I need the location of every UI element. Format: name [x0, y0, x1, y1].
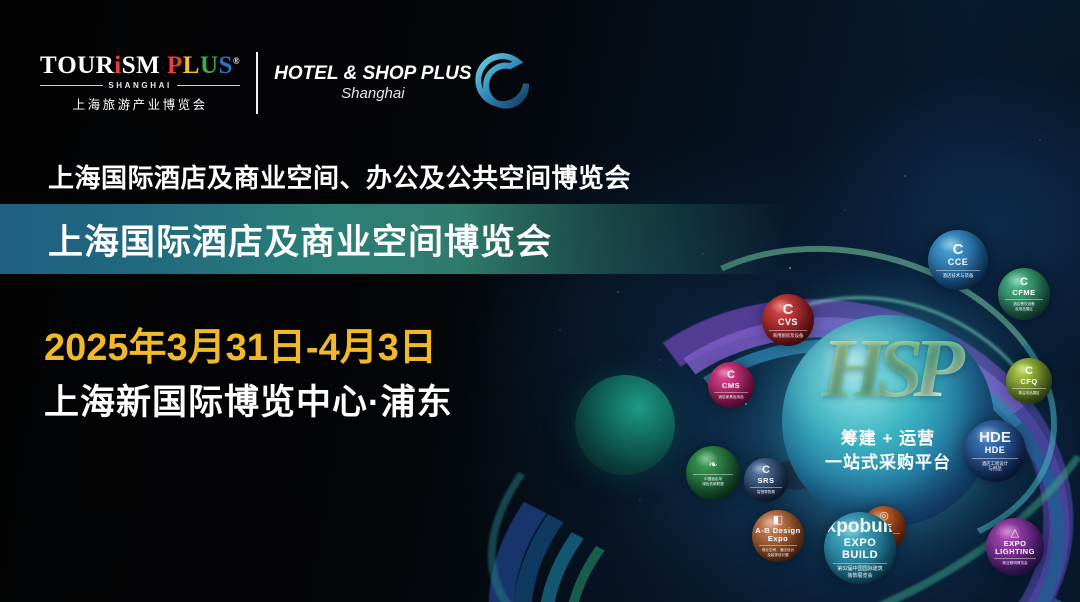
badge-mark-icon: C — [783, 302, 794, 317]
wordmark-letter: U — [200, 53, 219, 78]
hotel-shop-plus-logo[interactable]: HOTEL & SHOP PLUS Shanghai — [274, 52, 535, 114]
wordmark-letter: S — [219, 53, 233, 78]
slogan-line-1: 筹建 + 运营 — [782, 427, 994, 451]
headline-primary-bar: 上海国际酒店及商业空间博览会 — [0, 204, 790, 274]
rule-right — [177, 85, 240, 86]
wordmark-letter — [160, 53, 167, 78]
badge-mark-icon: C — [762, 465, 770, 476]
logo-divider — [256, 52, 258, 114]
badge-subtitle: 酒店技术与装备 — [936, 270, 980, 279]
badge-subtitle: 商业空间、酒店设计及装饰设计展 — [759, 545, 797, 557]
badge-subtitle: 中国酒店用绿色低碳联盟 — [693, 474, 733, 486]
badge-subtitle: 第32届中国国际建筑装饰展览会 — [833, 563, 886, 579]
rule-left — [40, 85, 103, 86]
badge-code: A-B Design Expo — [752, 527, 804, 544]
satellite-badge[interactable]: ◧A-B Design Expo商业空间、酒店设计及装饰设计展 — [752, 510, 804, 562]
badge-code: EXPO BUILD — [824, 537, 896, 561]
badge-code: CMS — [722, 382, 740, 390]
slogan-line-2: 一站式采购平台 — [782, 451, 994, 475]
badge-mark-icon: C — [953, 242, 964, 257]
green-planet-decoration — [575, 375, 675, 475]
hotel-shop-plus-line2: Shanghai — [274, 85, 471, 102]
badge-code: CVS — [778, 318, 798, 328]
badge-subtitle: 酒店餐饮设备及用品展区 — [1005, 299, 1043, 311]
satellite-badge[interactable]: CCFME酒店餐饮设备及用品展区 — [998, 268, 1050, 320]
hsp-monogram: HSP — [782, 327, 994, 411]
satellite-badge[interactable]: CCFQ清洁用品展区 — [1006, 358, 1052, 404]
logo-lockup: TOURiSM PLUS® SHANGHAI 上海旅游产业博览会 HOTEL &… — [40, 52, 536, 114]
wordmark-letter: L — [183, 53, 200, 78]
wordmark-letter: O — [57, 53, 77, 78]
wordmark-letter: M — [136, 53, 160, 78]
badge-mark-icon: HDE — [979, 430, 1011, 445]
satellite-badge[interactable]: △EXPO LIGHTING商业照明博览会 — [986, 518, 1044, 576]
badge-subtitle: 酒店工程设计与用品 — [972, 458, 1018, 472]
hotel-shop-plus-line1: HOTEL & SHOP PLUS — [274, 64, 471, 84]
event-date: 2025年3月31日-4月3日 — [44, 316, 437, 371]
badge-code: HDE — [985, 446, 1006, 456]
wordmark-letter: U — [77, 53, 96, 78]
badge-mark-icon: C — [727, 370, 735, 381]
event-banner: HSP 筹建 + 运营 一站式采购平台 CCCE酒店技术与装备CCFME酒店餐饮… — [0, 0, 1080, 602]
headline-primary: 上海国际酒店及商业空间博览会 — [48, 214, 552, 265]
badge-subtitle: 智慧零售展 — [750, 487, 783, 495]
swirl-icon — [474, 52, 536, 114]
tourism-plus-city-row: SHANGHAI — [40, 81, 240, 90]
satellite-badge[interactable]: HDEHDE酒店工程设计与用品 — [964, 420, 1026, 482]
tourism-plus-name-cn: 上海旅游产业博览会 — [73, 94, 208, 113]
tourism-plus-city: SHANGHAI — [108, 81, 171, 90]
badge-mark-icon: △ — [1011, 528, 1019, 539]
wordmark-letter: R — [96, 53, 115, 78]
badge-mark-icon: C — [1025, 366, 1033, 377]
satellite-badge[interactable]: expobuildEXPO BUILD第32届中国国际建筑装饰展览会 — [824, 512, 896, 584]
wordmark-letter: i — [114, 53, 121, 78]
wordmark-letter: P — [167, 53, 183, 78]
hotel-shop-plus-text: HOTEL & SHOP PLUS Shanghai — [274, 64, 471, 103]
satellite-badge[interactable]: CSRS智慧零售展 — [744, 458, 788, 502]
badge-subtitle: 商业照明博览会 — [994, 558, 1037, 566]
registered-trademark-icon: ® — [233, 57, 240, 66]
badge-mark-icon: ◧ — [773, 515, 783, 526]
wordmark-letter: T — [40, 53, 57, 78]
tourism-plus-logo[interactable]: TOURiSM PLUS® SHANGHAI 上海旅游产业博览会 — [40, 53, 240, 113]
badge-subtitle: 商用厨房及设备 — [769, 330, 807, 339]
badge-mark-icon: ❧ — [708, 460, 717, 471]
badge-subtitle: 酒店家具及用品 — [714, 392, 748, 400]
event-venue: 上海新国际博览中心·浦东 — [44, 374, 453, 425]
badge-mark-icon: expobuild — [824, 517, 896, 536]
satellite-badge[interactable]: ❧中国酒店用绿色低碳联盟 — [686, 446, 740, 500]
satellite-badge[interactable]: CCVS商用厨房及设备 — [762, 294, 814, 346]
badge-code: CFME — [1012, 289, 1035, 297]
satellite-badge[interactable]: CCMS酒店家具及用品 — [708, 362, 754, 408]
badge-code: CCE — [948, 258, 969, 268]
badge-code: SRS — [758, 477, 775, 485]
wordmark-letter: S — [122, 53, 136, 78]
badge-code: EXPO LIGHTING — [986, 540, 1044, 557]
tourism-plus-wordmark: TOURiSM PLUS® — [40, 53, 240, 78]
badge-code: CFQ — [1020, 378, 1037, 386]
satellite-badge[interactable]: CCCE酒店技术与装备 — [928, 230, 988, 290]
badge-mark-icon: C — [1020, 277, 1028, 288]
headline-secondary: 上海国际酒店及商业空间、办公及公共空间博览会 — [48, 158, 631, 195]
badge-subtitle: 清洁用品展区 — [1012, 388, 1046, 396]
sphere-slogan: 筹建 + 运营 一站式采购平台 — [782, 427, 994, 475]
central-sphere: HSP 筹建 + 运营 一站式采购平台 — [782, 315, 994, 527]
